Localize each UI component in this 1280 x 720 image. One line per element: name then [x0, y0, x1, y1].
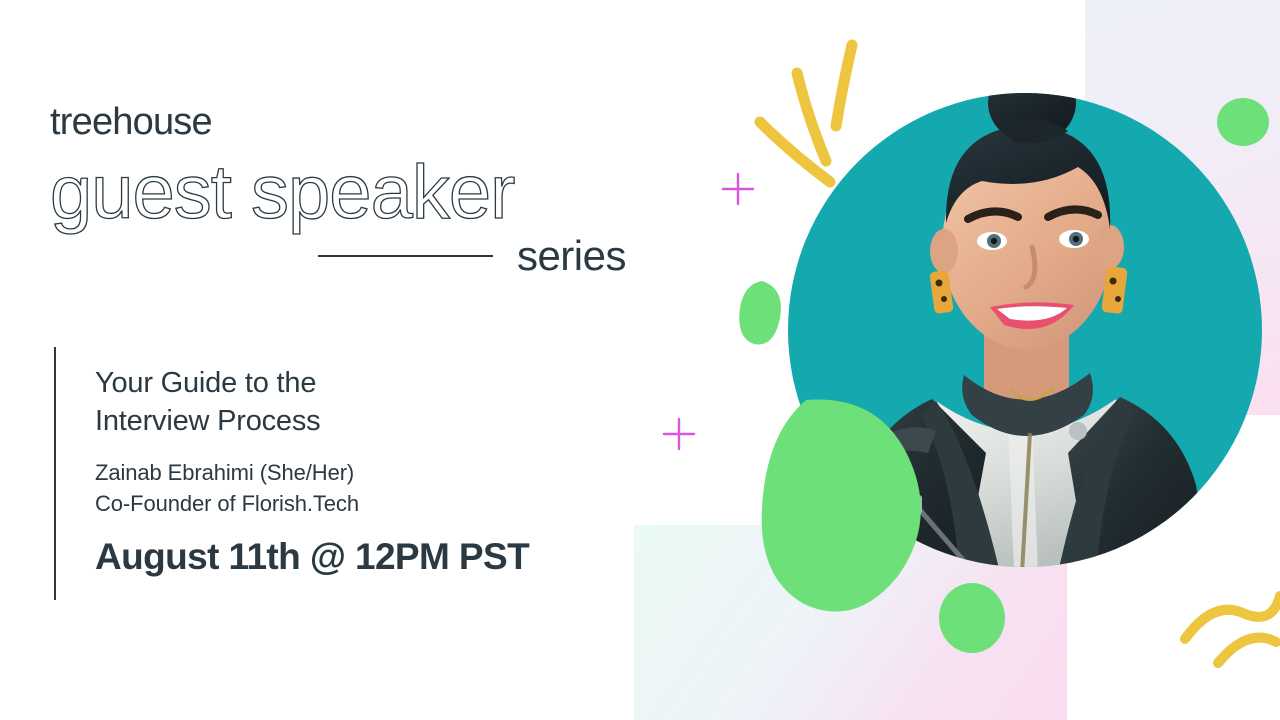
- event-datetime: August 11th @ 12PM PST: [95, 537, 529, 578]
- slide-canvas: treehouse guest speaker series Your Guid…: [0, 0, 1280, 720]
- green-blob-small-left: [739, 281, 781, 344]
- event-details-block: Your Guide to the Interview Process Zain…: [54, 347, 529, 600]
- plus-mark-lower: [664, 419, 694, 449]
- speaker-portrait-image: [786, 33, 1266, 573]
- series-row: series: [50, 235, 626, 277]
- speaker-photo: [788, 93, 1262, 567]
- treehouse-wordmark: treehouse: [50, 103, 670, 141]
- guest-speaker-title: guest speaker: [50, 153, 670, 233]
- yellow-squiggle-lines: [1185, 596, 1280, 663]
- talk-title: Your Guide to the Interview Process: [95, 364, 529, 441]
- plus-mark-upper: [723, 174, 753, 204]
- speaker-role: Co-Founder of Florish.Tech: [95, 488, 529, 520]
- series-label: series: [517, 235, 626, 277]
- headline-block: treehouse guest speaker series: [50, 103, 670, 277]
- speaker-name: Zainab Ebrahimi (She/Her): [95, 457, 529, 489]
- series-divider-rule: [318, 255, 493, 257]
